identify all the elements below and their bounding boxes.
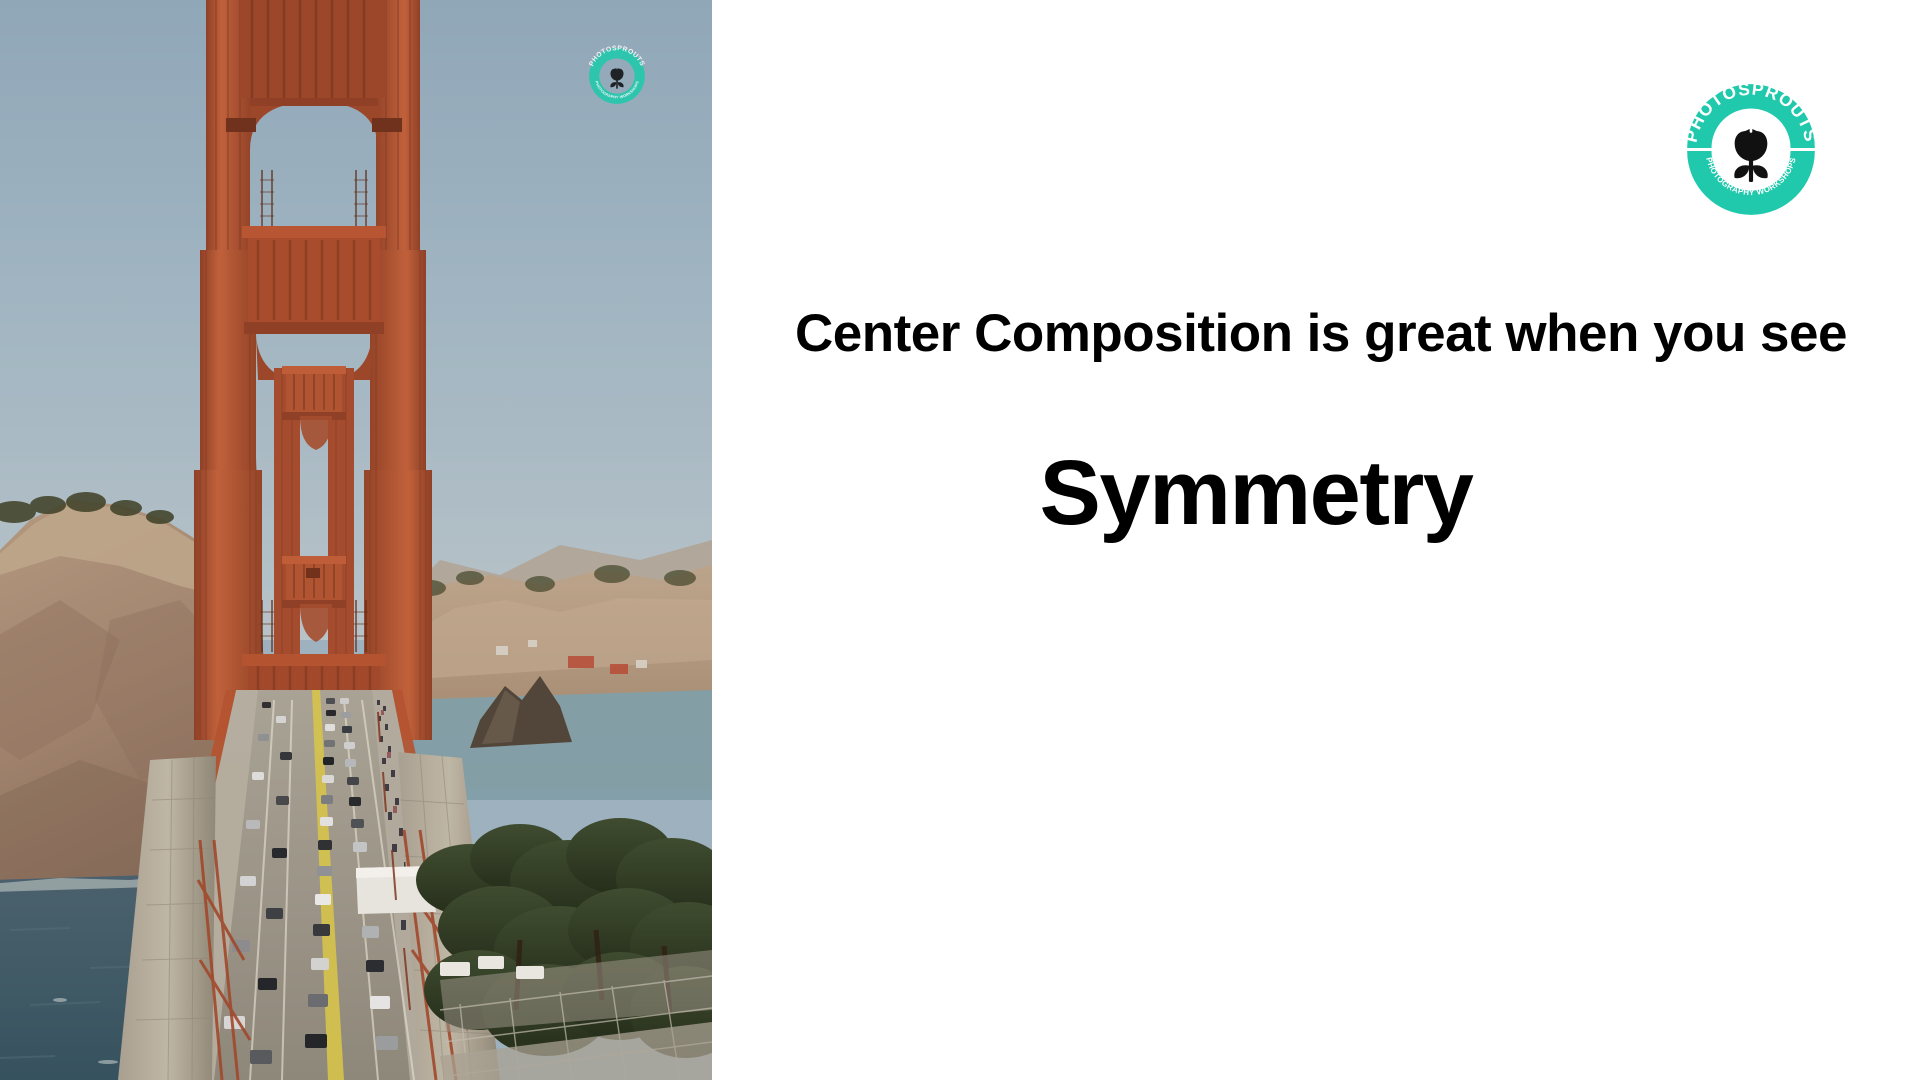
- brand-logo: PHOTOSPROUTS PHOTOGRAPHY WORKSHOPS: [1675, 90, 1827, 206]
- slide-root: PHOTOSPROUTS PHOTOGRAPHY WORKSHOPS: [0, 0, 1920, 1080]
- slide-headline: Center Composition is great when you see: [712, 305, 1920, 363]
- content-panel: PHOTOSPROUTS PHOTOGRAPHY WORKSHOPS Cente…: [712, 0, 1920, 1080]
- slide-keyword: Symmetry: [712, 443, 1920, 544]
- golden-gate-bridge-photo: [0, 0, 712, 1080]
- tulip-icon: [1734, 129, 1767, 182]
- photo-panel: PHOTOSPROUTS PHOTOGRAPHY WORKSHOPS: [0, 0, 712, 1080]
